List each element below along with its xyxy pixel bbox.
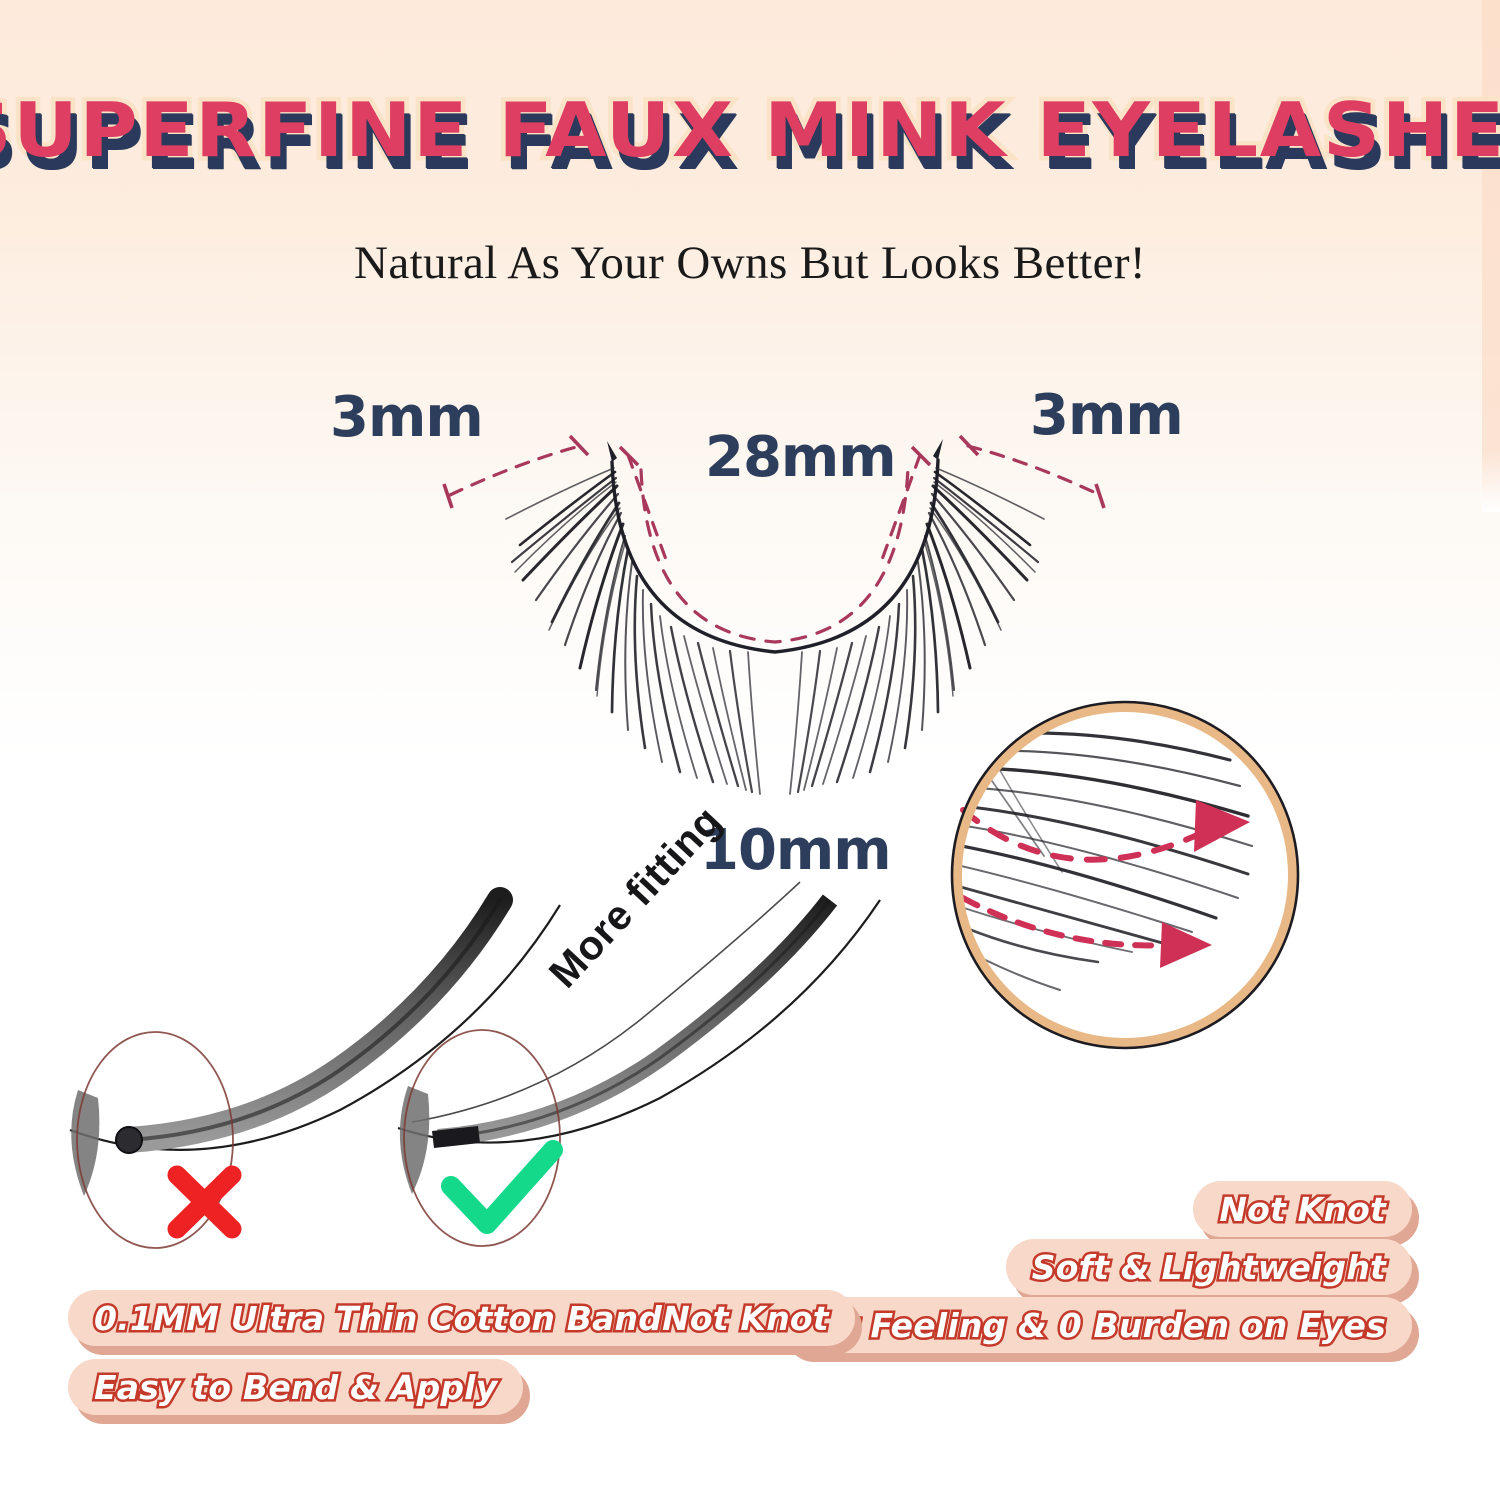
badge-soft-lightweight: Soft & Lightweight xyxy=(1006,1239,1412,1295)
product-infographic: SUPERFINE FAUX MINK EYELASHES Natural As… xyxy=(0,0,1500,1500)
x-mark-icon xyxy=(177,1175,232,1229)
page-subtitle: Natural As Your Owns But Looks Better! xyxy=(0,236,1500,290)
badge-not-knot: Not Knot xyxy=(1193,1181,1412,1237)
badge-easy-bend: Easy to Bend & Apply xyxy=(68,1359,523,1415)
badge-cotton-band: 0.1MM Ultra Thin Cotton BandNot Knot xyxy=(68,1290,855,1346)
title-block: SUPERFINE FAUX MINK EYELASHES xyxy=(0,92,1500,169)
more-fitting-callout: More fitting xyxy=(540,797,731,997)
measure-label-left-end: 3mm xyxy=(330,385,483,450)
badge-label: Easy to Bend & Apply xyxy=(94,1368,497,1407)
eyelash-illustration xyxy=(506,439,1044,794)
badge-label: 0.1MM Ultra Thin Cotton BandNot Knot xyxy=(94,1299,829,1338)
measure-label-right-end: 3mm xyxy=(1030,383,1183,448)
page-title: SUPERFINE FAUX MINK EYELASHES xyxy=(0,92,1500,169)
arrow-head-upper xyxy=(1194,800,1250,852)
magnifier-arrows xyxy=(963,810,1214,945)
badge-label: Soft & Lightweight xyxy=(1032,1248,1386,1287)
comparison-bad xyxy=(70,900,560,1248)
badge-label: Not Knot xyxy=(1219,1190,1386,1229)
badge-air-feeling: Air Feeling & 0 Burden on Eyes xyxy=(779,1297,1412,1353)
measure-label-band-width: 28mm xyxy=(705,425,896,490)
badge-label: Air Feeling & 0 Burden on Eyes xyxy=(805,1306,1386,1345)
magnifier-circle xyxy=(938,702,1298,1048)
comparison-good xyxy=(398,882,880,1246)
arrow-head-lower xyxy=(1160,922,1212,968)
check-mark-icon xyxy=(451,1150,553,1224)
